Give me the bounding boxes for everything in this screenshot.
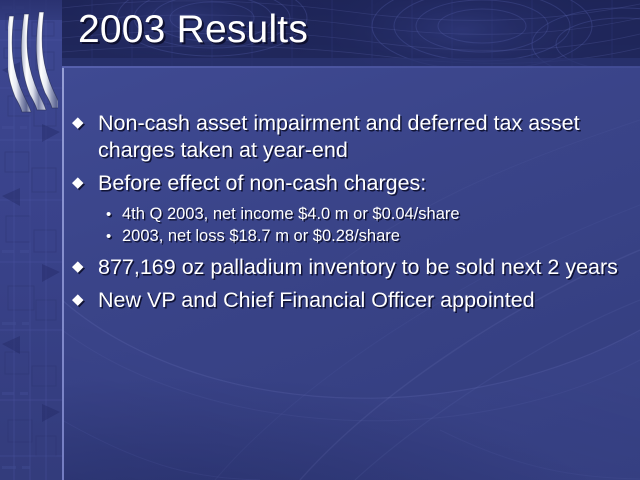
bullet-item-1: ◆ Non-cash asset impairment and deferred…: [70, 110, 630, 163]
sub-bullet-text: 2003, net loss $18.7 m or $0.28/share: [122, 226, 630, 247]
sub-bullet-item-2: • 2003, net loss $18.7 m or $0.28/share: [70, 226, 630, 247]
bullet-item-4: ◆ New VP and Chief Financial Officer app…: [70, 287, 630, 314]
header-underline: [62, 66, 640, 68]
diamond-bullet-icon: ◆: [70, 170, 98, 197]
diamond-bullet-icon: ◆: [70, 254, 98, 281]
round-bullet-icon: •: [106, 204, 122, 225]
diamond-bullet-icon: ◆: [70, 110, 98, 137]
slide-body-content: ◆ Non-cash asset impairment and deferred…: [70, 110, 630, 316]
bullet-text: Non-cash asset impairment and deferred t…: [98, 110, 630, 163]
three-ribbon-logo-icon: [8, 8, 58, 120]
sub-bullet-item-1: • 4th Q 2003, net income $4.0 m or $0.04…: [70, 204, 630, 225]
bullet-item-2: ◆ Before effect of non-cash charges:: [70, 170, 630, 197]
bullet-item-3: ◆ 877,169 oz palladium inventory to be s…: [70, 254, 630, 281]
bullet-text: New VP and Chief Financial Officer appoi…: [98, 287, 630, 314]
page-title: 2003 Results: [78, 4, 618, 56]
bullet-text: 877,169 oz palladium inventory to be sol…: [98, 254, 630, 281]
round-bullet-icon: •: [106, 226, 122, 247]
sidebar-divider-line: [62, 0, 64, 480]
presentation-slide: 2003 Results ◆ Non-cash asset impairment…: [0, 0, 640, 480]
diamond-bullet-icon: ◆: [70, 287, 98, 314]
sub-bullet-text: 4th Q 2003, net income $4.0 m or $0.04/s…: [122, 204, 630, 225]
bullet-text: Before effect of non-cash charges:: [98, 170, 630, 197]
